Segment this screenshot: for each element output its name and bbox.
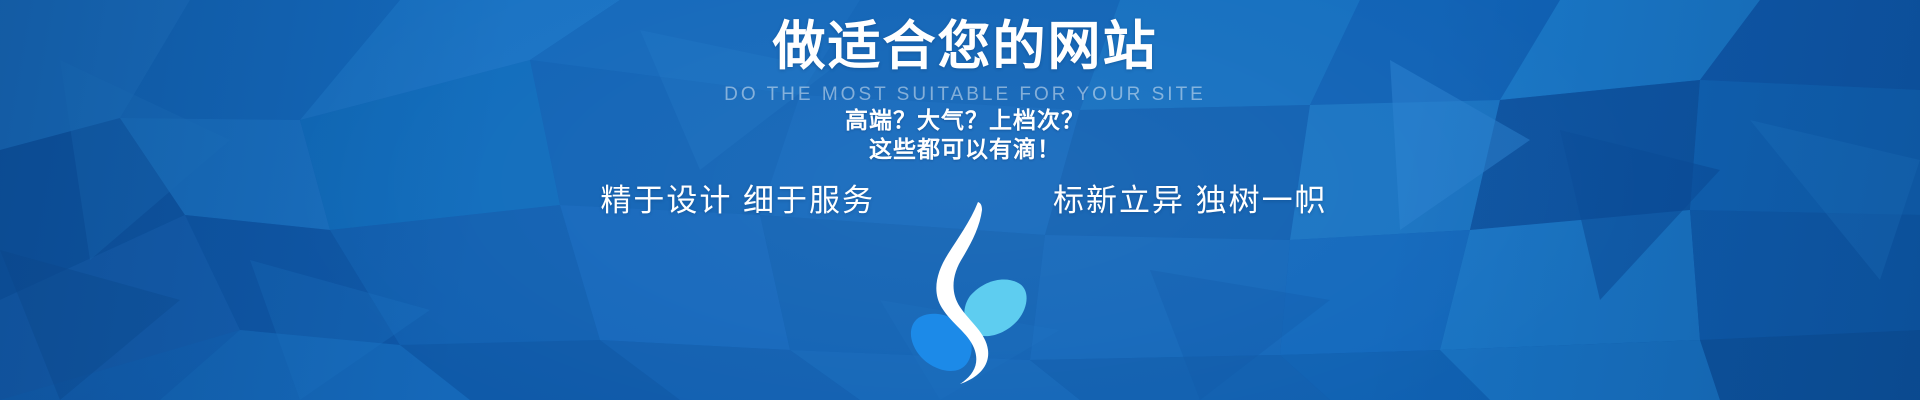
- pitch-line-1: 高端？大气？上档次？: [0, 106, 1920, 135]
- brand-logo: [908, 200, 1032, 385]
- page-subtitle: DO THE MOST SUITABLE FOR YOUR SITE: [0, 84, 1920, 106]
- pitch-block: 高端？大气？上档次？ 这些都可以有滴！: [0, 106, 1920, 164]
- page-title: 做适合您的网站: [0, 16, 1920, 78]
- slogan-right: 标新立异 独树一帜: [1053, 178, 1328, 224]
- pitch-line-2: 这些都可以有滴！: [0, 135, 1920, 164]
- slogan-left: 精于设计 细于服务: [600, 178, 875, 224]
- hero-banner: 做适合您的网站 DO THE MOST SUITABLE FOR YOUR SI…: [0, 0, 1920, 400]
- headline-block: 做适合您的网站 DO THE MOST SUITABLE FOR YOUR SI…: [0, 16, 1920, 106]
